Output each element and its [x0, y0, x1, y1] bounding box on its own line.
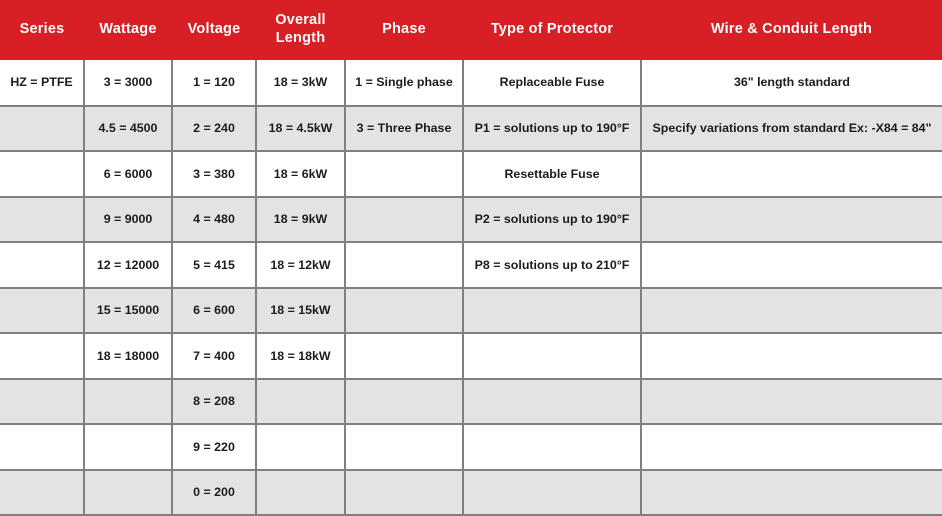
cell-wire-conduit-length	[641, 333, 942, 379]
overall-length-line-1: Overall	[275, 12, 326, 28]
cell-phase	[345, 242, 463, 288]
cell-wire-conduit-length	[641, 242, 942, 288]
cell-phase	[345, 333, 463, 379]
cell-phase	[345, 197, 463, 243]
table-header: Series Wattage Voltage Overall Length Ph…	[0, 0, 942, 60]
cell-phase	[345, 379, 463, 425]
cell-wire-conduit-length: 36" length standard	[641, 60, 942, 106]
cell-series	[0, 197, 84, 243]
table-row: 9 = 90004 = 48018 = 9kWP2 = solutions up…	[0, 197, 942, 243]
cell-voltage: 7 = 400	[172, 333, 256, 379]
cell-type-of-protector: P1 = solutions up to 190°F	[463, 106, 641, 152]
column-header-wire-conduit-length: Wire & Conduit Length	[641, 0, 942, 60]
cell-wattage: 3 = 3000	[84, 60, 172, 106]
column-header-voltage: Voltage	[172, 0, 256, 60]
cell-phase	[345, 470, 463, 516]
table-row: 12 = 120005 = 41518 = 12kWP8 = solutions…	[0, 242, 942, 288]
cell-wire-conduit-length	[641, 151, 942, 197]
header-row: Series Wattage Voltage Overall Length Ph…	[0, 0, 942, 60]
cell-wattage: 9 = 9000	[84, 197, 172, 243]
cell-series	[0, 379, 84, 425]
column-header-wattage: Wattage	[84, 0, 172, 60]
spec-table: Series Wattage Voltage Overall Length Ph…	[0, 0, 942, 516]
cell-type-of-protector: P2 = solutions up to 190°F	[463, 197, 641, 243]
cell-series	[0, 151, 84, 197]
cell-voltage: 2 = 240	[172, 106, 256, 152]
cell-wire-conduit-length: Specify variations from standard Ex: -X8…	[641, 106, 942, 152]
cell-voltage: 9 = 220	[172, 424, 256, 470]
cell-wattage: 15 = 15000	[84, 288, 172, 334]
cell-phase: 1 = Single phase	[345, 60, 463, 106]
cell-wattage	[84, 470, 172, 516]
table-row: HZ = PTFE3 = 30001 = 12018 = 3kW1 = Sing…	[0, 60, 942, 106]
table-row: 6 = 60003 = 38018 = 6kWResettable Fuse	[0, 151, 942, 197]
cell-series	[0, 333, 84, 379]
table-row: 8 = 208	[0, 379, 942, 425]
cell-wattage: 4.5 = 4500	[84, 106, 172, 152]
cell-series	[0, 242, 84, 288]
cell-overall-length: 18 = 12kW	[256, 242, 345, 288]
cell-overall-length: 18 = 6kW	[256, 151, 345, 197]
cell-wattage: 12 = 12000	[84, 242, 172, 288]
cell-wattage	[84, 379, 172, 425]
cell-overall-length	[256, 379, 345, 425]
cell-overall-length: 18 = 18kW	[256, 333, 345, 379]
cell-phase	[345, 288, 463, 334]
column-header-overall-length: Overall Length	[256, 0, 345, 60]
cell-overall-length	[256, 470, 345, 516]
cell-wire-conduit-length	[641, 424, 942, 470]
cell-wattage: 18 = 18000	[84, 333, 172, 379]
table-row: 15 = 150006 = 60018 = 15kW	[0, 288, 942, 334]
cell-series	[0, 106, 84, 152]
cell-wire-conduit-length	[641, 197, 942, 243]
cell-overall-length: 18 = 9kW	[256, 197, 345, 243]
overall-length-line-2: Length	[276, 30, 326, 46]
cell-wire-conduit-length	[641, 379, 942, 425]
cell-voltage: 5 = 415	[172, 242, 256, 288]
cell-voltage: 3 = 380	[172, 151, 256, 197]
cell-type-of-protector: P8 = solutions up to 210°F	[463, 242, 641, 288]
cell-voltage: 0 = 200	[172, 470, 256, 516]
table-row: 4.5 = 45002 = 24018 = 4.5kW3 = Three Pha…	[0, 106, 942, 152]
cell-type-of-protector	[463, 288, 641, 334]
cell-type-of-protector	[463, 333, 641, 379]
table-row: 9 = 220	[0, 424, 942, 470]
cell-voltage: 4 = 480	[172, 197, 256, 243]
cell-voltage: 1 = 120	[172, 60, 256, 106]
column-header-type-of-protector: Type of Protector	[463, 0, 641, 60]
table-row: 18 = 180007 = 40018 = 18kW	[0, 333, 942, 379]
cell-wattage	[84, 424, 172, 470]
cell-type-of-protector: Replaceable Fuse	[463, 60, 641, 106]
cell-wattage: 6 = 6000	[84, 151, 172, 197]
table-body: HZ = PTFE3 = 30001 = 12018 = 3kW1 = Sing…	[0, 60, 942, 515]
cell-voltage: 6 = 600	[172, 288, 256, 334]
cell-phase: 3 = Three Phase	[345, 106, 463, 152]
cell-series	[0, 288, 84, 334]
cell-overall-length: 18 = 3kW	[256, 60, 345, 106]
cell-overall-length: 18 = 15kW	[256, 288, 345, 334]
cell-series	[0, 470, 84, 516]
cell-type-of-protector	[463, 424, 641, 470]
cell-overall-length	[256, 424, 345, 470]
cell-overall-length: 18 = 4.5kW	[256, 106, 345, 152]
cell-phase	[345, 151, 463, 197]
column-header-phase: Phase	[345, 0, 463, 60]
cell-type-of-protector: Resettable Fuse	[463, 151, 641, 197]
cell-series: HZ = PTFE	[0, 60, 84, 106]
cell-wire-conduit-length	[641, 470, 942, 516]
cell-wire-conduit-length	[641, 288, 942, 334]
table-row: 0 = 200	[0, 470, 942, 516]
cell-type-of-protector	[463, 379, 641, 425]
column-header-series: Series	[0, 0, 84, 60]
cell-series	[0, 424, 84, 470]
cell-voltage: 8 = 208	[172, 379, 256, 425]
cell-type-of-protector	[463, 470, 641, 516]
cell-phase	[345, 424, 463, 470]
